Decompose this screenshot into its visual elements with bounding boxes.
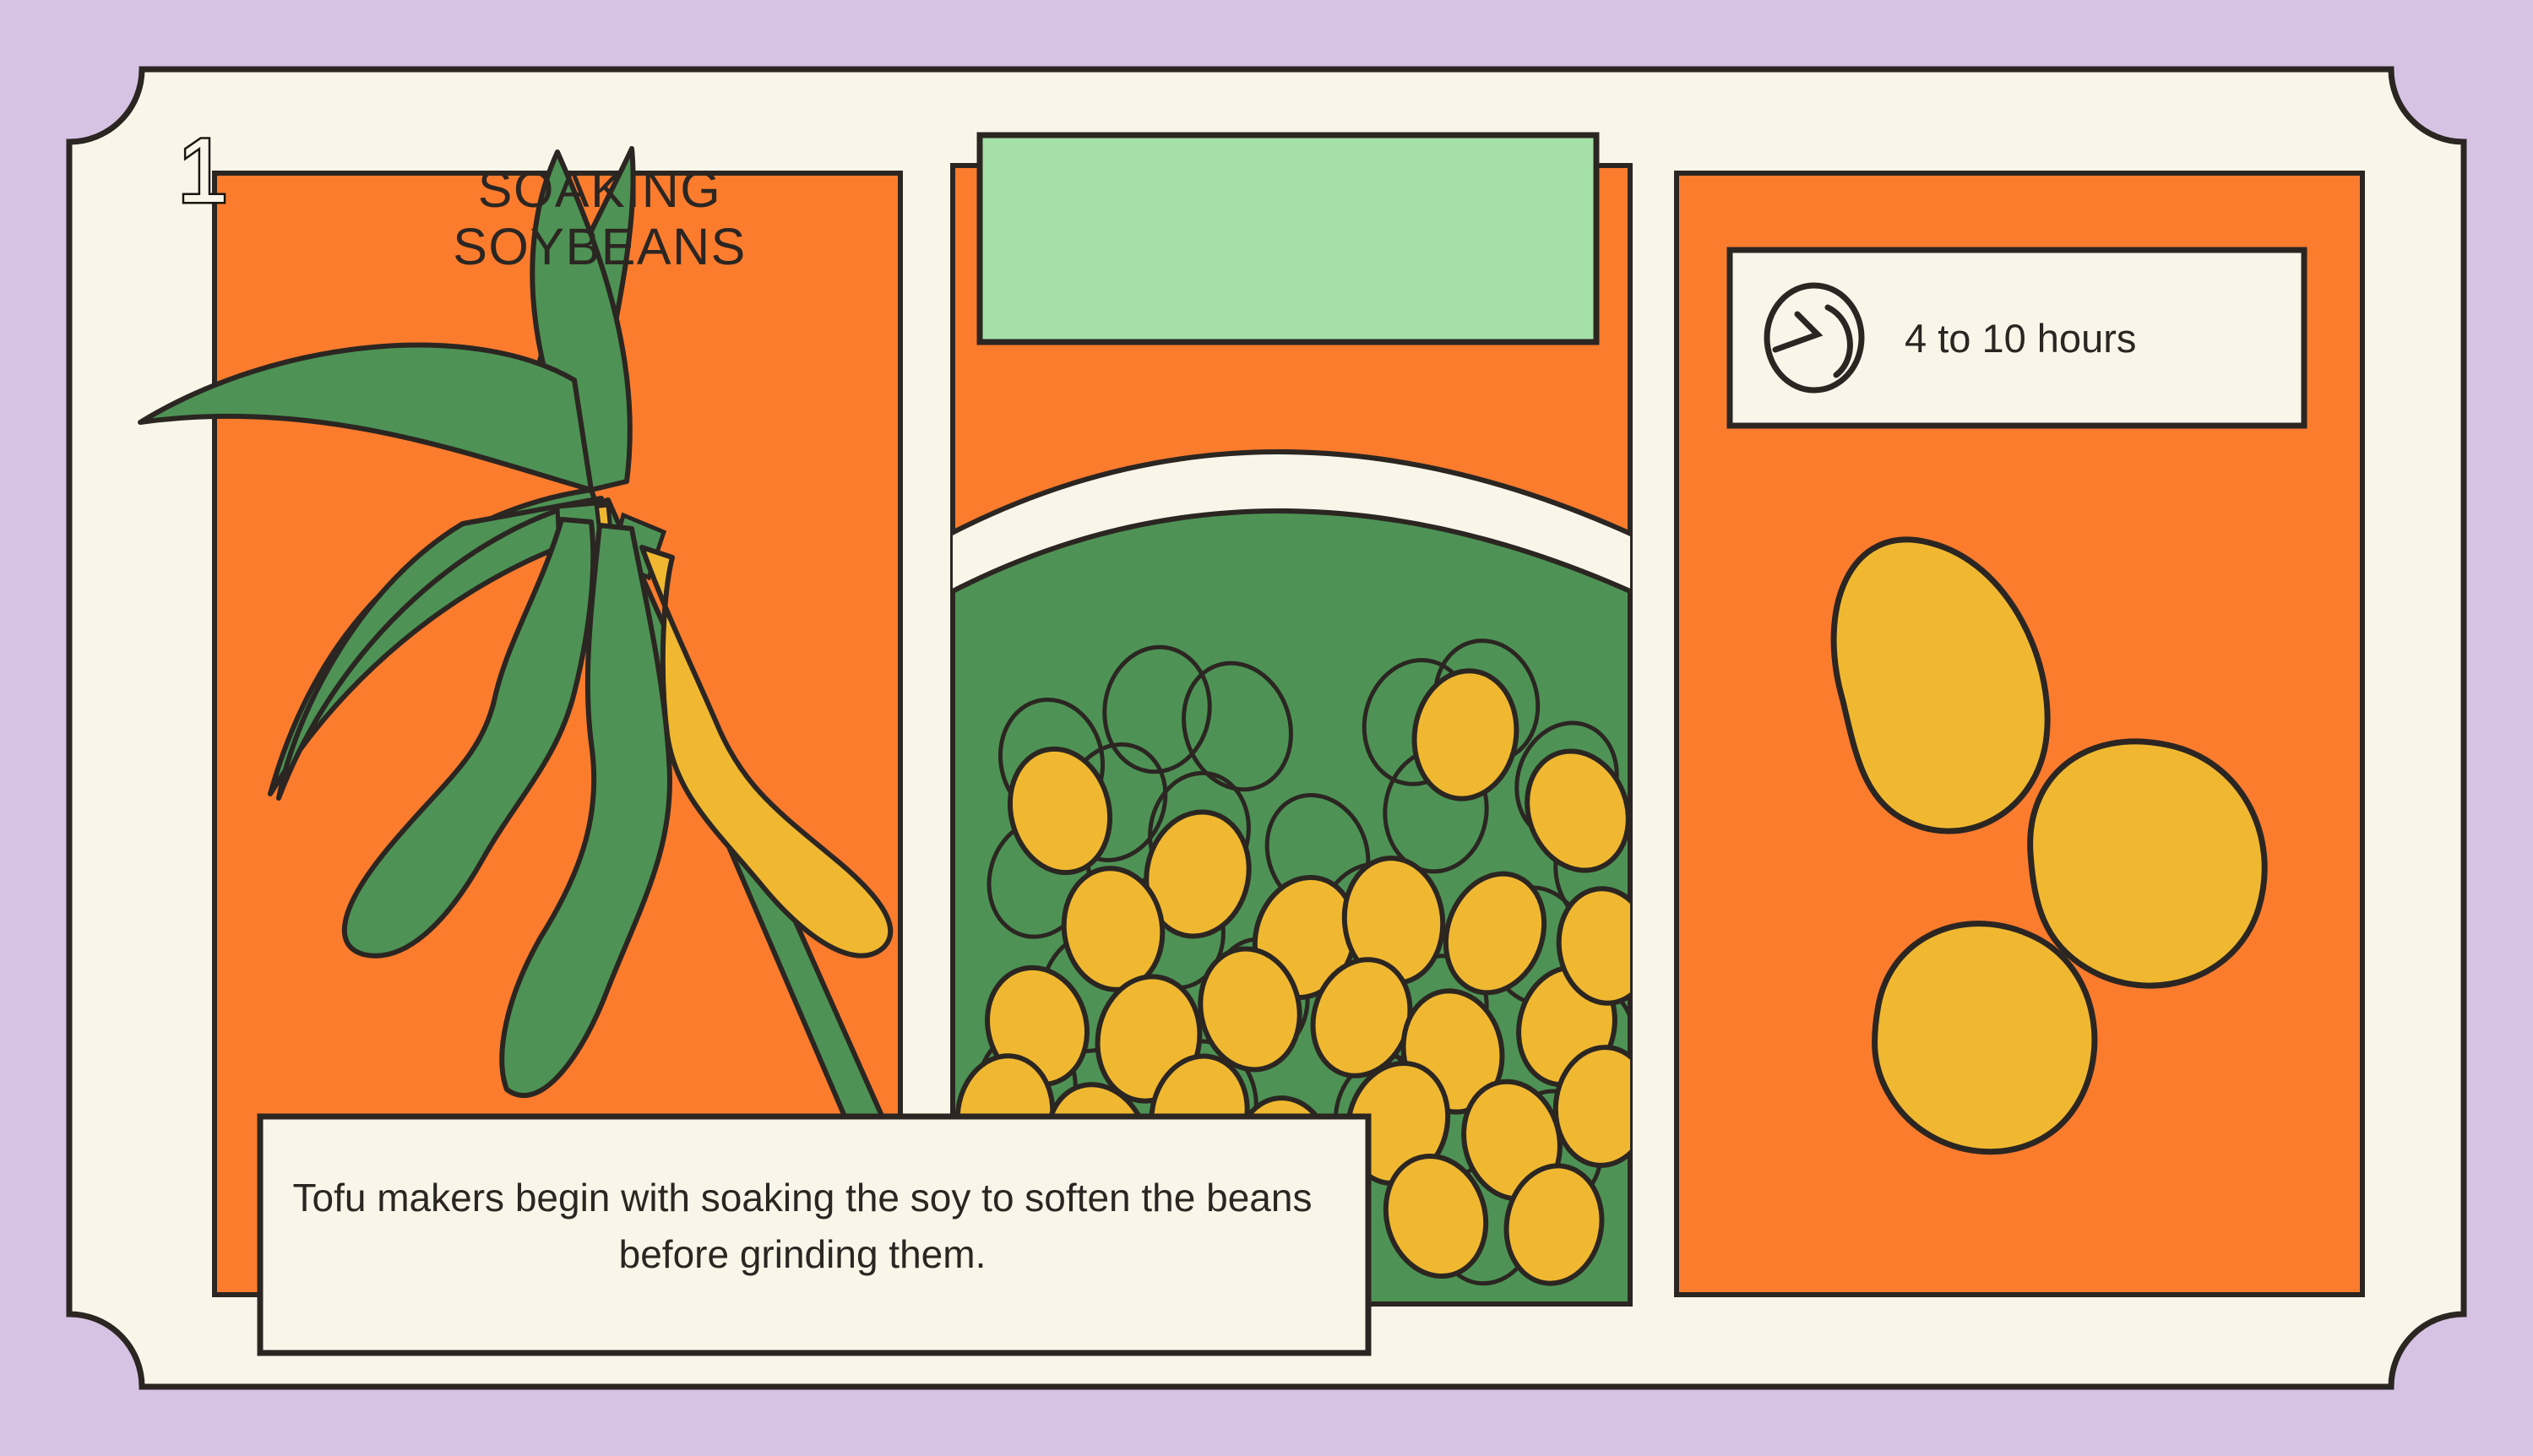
step-number: 1 bbox=[152, 125, 253, 216]
soaked-bean-right bbox=[2030, 742, 2265, 986]
infographic-card-stage: 1 SOAKING SOYBEANS 4 to 10 hours Tofu ma… bbox=[0, 0, 2533, 1456]
caption-text: Tofu makers begin with soaking the soy t… bbox=[279, 1170, 1326, 1282]
duration-label: 4 to 10 hours bbox=[1905, 318, 2136, 358]
step-header-banner bbox=[980, 135, 1596, 342]
soaked-bean-bottom bbox=[1874, 924, 2094, 1152]
step-title: SOAKING SOYBEANS bbox=[279, 160, 921, 276]
step-title-line-2: SOYBEANS bbox=[279, 218, 921, 275]
step-title-line-1: SOAKING bbox=[279, 160, 921, 218]
